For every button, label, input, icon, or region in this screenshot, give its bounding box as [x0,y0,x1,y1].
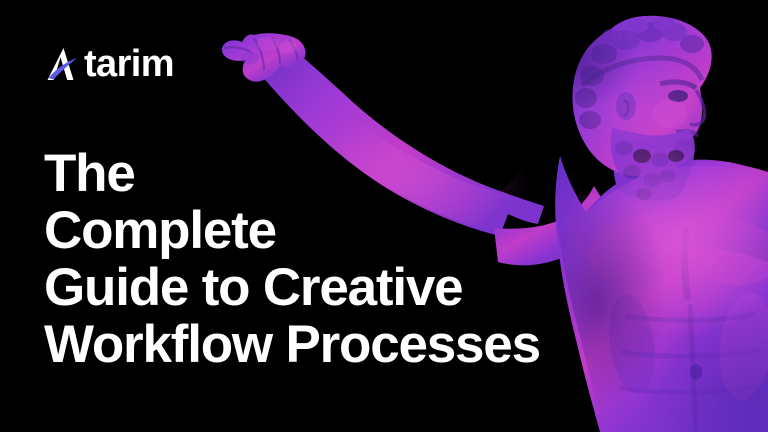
headline-line-4: Workflow Processes [44,316,540,373]
logo-mark-svg [42,42,86,86]
statue-torso [555,156,768,432]
atarim-wordmark: tarim [84,45,174,83]
statue-hand [222,33,306,81]
statue-beard [611,128,695,199]
headline-line-3: Guide to Creative [44,259,540,316]
statue-hair [575,17,704,129]
atarim-a-swoosh-icon [42,42,86,86]
headline-line-1: The [44,145,540,202]
banner-canvas: tarim The Complete Guide to Creative Wor… [0,0,768,432]
headline-line-2: Complete [44,202,540,259]
statue-head [572,16,711,201]
atarim-logo[interactable]: tarim [42,40,174,88]
page-title: The Complete Guide to Creative Workflow … [44,145,540,373]
